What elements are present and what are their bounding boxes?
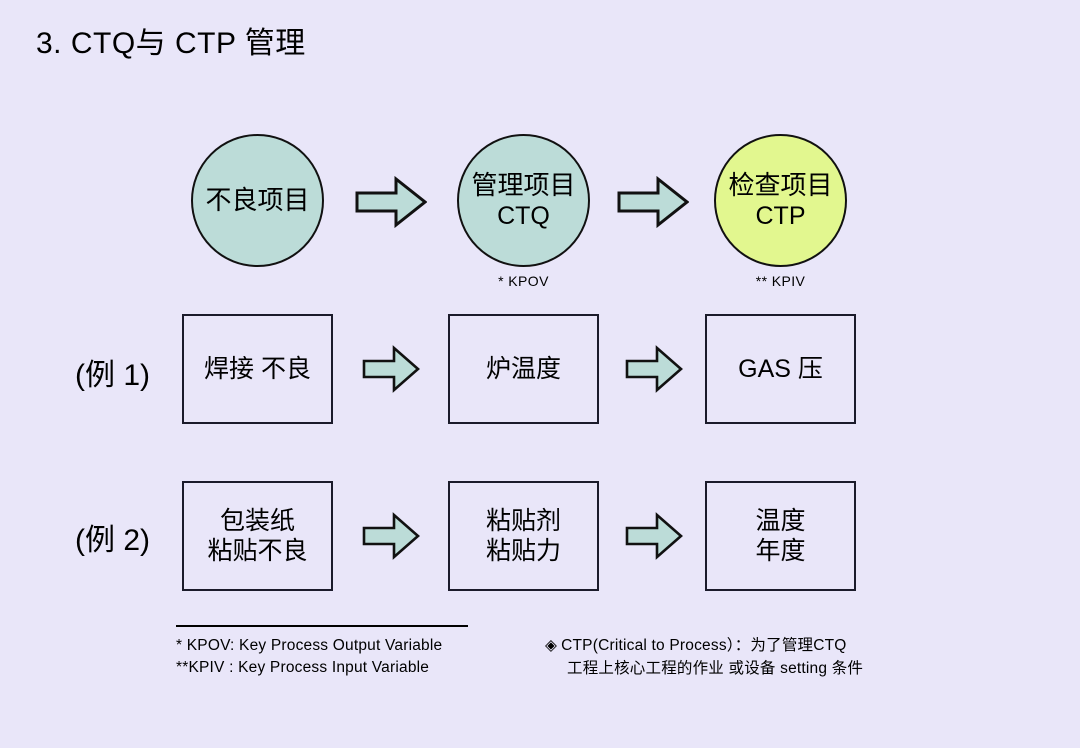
arrow-right-icon (362, 345, 420, 393)
example-2-label: (例 2) (75, 515, 150, 559)
example-2-box-1-line-2: 粘贴不良 (207, 536, 307, 567)
footnote-ctp-line-1: ◈CTP(Critical to Process）：为了管理CTQ (545, 634, 863, 657)
example-2-arrow-2 (625, 512, 683, 560)
example-1-box-1: 焊接 不良 (182, 314, 333, 424)
example-2-box-2: 粘贴剂 粘贴力 (448, 481, 599, 591)
arrow-right-icon (355, 176, 427, 228)
example-2-box-3: 温度 年度 (705, 481, 856, 591)
footnote-kpov: * KPOV: Key Process Output Variable (176, 635, 442, 657)
flow-arrow-top-1 (355, 176, 427, 228)
example-2-arrow-1 (362, 512, 420, 560)
footnote-divider (176, 625, 468, 627)
example-2-box-3-line-2: 年度 (755, 536, 805, 567)
example-1-box-3: GAS 压 (705, 314, 856, 424)
example-1-box-3-line-1: GAS 压 (738, 354, 823, 385)
flow-node-defect-item-label: 不良项目 (205, 186, 309, 215)
footnote-kpiv: **KPIV : Key Process Input Variable (176, 657, 442, 679)
footnote-ctp-text-1: CTP(Critical to Process）：为了管理CTQ (561, 637, 846, 654)
example-2-box-1: 包装纸 粘贴不良 (182, 481, 333, 591)
example-2-box-2-line-2: 粘贴力 (486, 536, 561, 567)
example-2-box-1-line-1: 包装纸 (220, 506, 295, 537)
flow-arrow-top-2 (617, 176, 689, 228)
example-1-box-2: 炉温度 (448, 314, 599, 424)
flow-node-control-item-ctq-sublabel: CTQ (497, 202, 550, 230)
arrow-right-icon (625, 512, 683, 560)
example-1-box-2-line-1: 炉温度 (486, 354, 561, 385)
flow-node-inspection-item-ctp-caption: ** KPIV (714, 273, 847, 289)
flow-node-inspection-item-ctp-label: 检查项目 (728, 171, 832, 200)
flow-node-control-item-ctq-caption: * KPOV (457, 273, 590, 289)
flow-node-inspection-item-ctp: 检查项目 CTP (714, 134, 847, 267)
example-2-box-2-line-1: 粘贴剂 (486, 506, 561, 537)
flow-node-control-item-ctq: 管理项目 CTQ (457, 134, 590, 267)
example-1-label: (例 1) (75, 350, 150, 394)
arrow-right-icon (625, 345, 683, 393)
page-title: 3. CTQ与 CTP 管理 (36, 18, 306, 62)
footnote-right: ◈CTP(Critical to Process）：为了管理CTQ 工程上核心工… (545, 634, 863, 681)
example-1-box-1-line-1: 焊接 不良 (204, 354, 311, 385)
example-2-box-3-line-1: 温度 (755, 506, 805, 537)
footnote-ctp-line-2: 工程上核心工程的作业 或设备 setting 条件 (545, 657, 863, 680)
flow-node-inspection-item-ctp-sublabel: CTP (756, 202, 806, 230)
slide-canvas: 3. CTQ与 CTP 管理 不良项目 管理项目 CTQ * KPOV 检查项目… (0, 0, 1080, 748)
flow-node-defect-item: 不良项目 (191, 134, 324, 267)
footnote-left: * KPOV: Key Process Output Variable **KP… (176, 635, 442, 679)
flow-node-control-item-ctq-label: 管理项目 (471, 171, 575, 200)
arrow-right-icon (617, 176, 689, 228)
example-1-arrow-2 (625, 345, 683, 393)
example-1-arrow-1 (362, 345, 420, 393)
arrow-right-icon (362, 512, 420, 560)
diamond-bullet-icon: ◈ (545, 634, 557, 657)
